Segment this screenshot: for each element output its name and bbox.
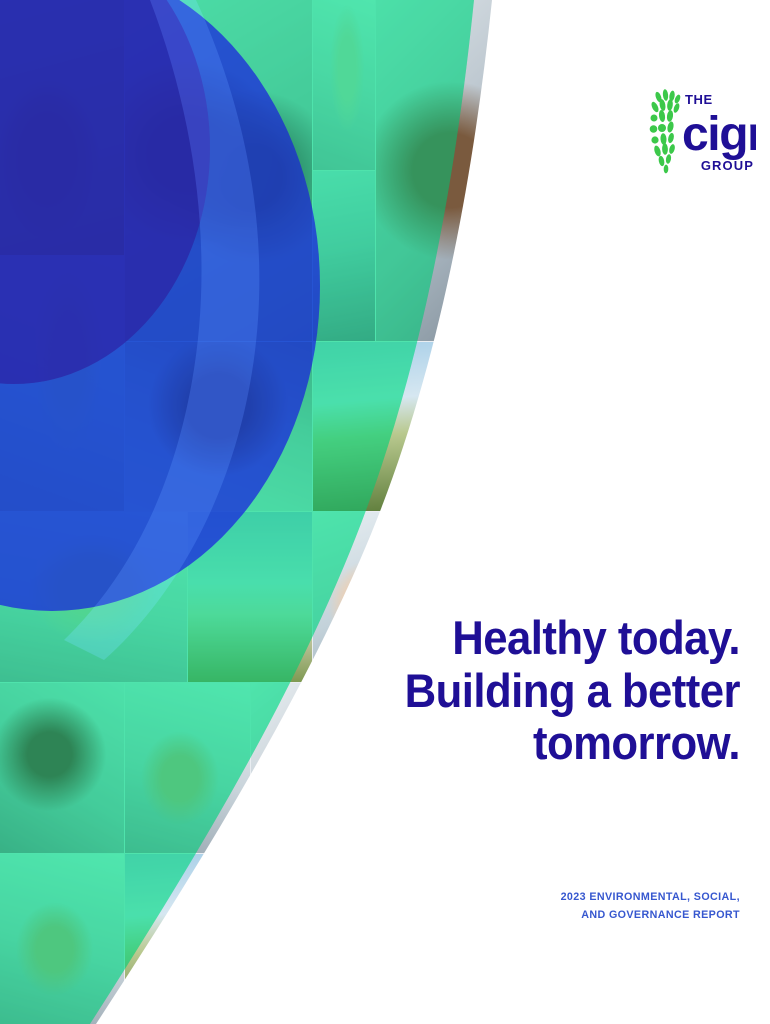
list-item: [376, 0, 500, 341]
collage-tile-person-walking-path: [0, 0, 124, 255]
page-title: Healthy today. Building a better tomorro…: [340, 612, 740, 770]
collage-tile-children-outdoors-play: [313, 342, 437, 512]
list-item: [313, 171, 375, 341]
headline-line-1: Healthy today.: [340, 612, 740, 665]
report-cover-page: THE cigna GROUP Healthy today. Building …: [0, 0, 770, 1024]
cigna-tree-of-life-icon: [650, 89, 682, 174]
list-item: [376, 940, 500, 1024]
list-item: [188, 512, 312, 682]
list-item: [0, 0, 124, 255]
list-item: [438, 342, 500, 597]
collage-tile-hands-holding-photo-frame: [313, 0, 375, 170]
list-item: [0, 854, 124, 1024]
collage-tile-musician-with-trumpet: [376, 0, 500, 341]
collage-tile-two-men-in-conversation: [0, 683, 124, 853]
subtitle-line-2: AND GOVERNANCE REPORT: [420, 906, 740, 924]
list-item: [125, 342, 312, 512]
list-item: [0, 683, 124, 853]
list-item: [251, 854, 375, 1024]
collage-tile-family-hiking-meadow: [188, 512, 312, 682]
cigna-group-logo[interactable]: THE cigna GROUP: [644, 88, 756, 186]
logo-the-label: THE: [685, 92, 713, 107]
collage-tile-video-call-on-laptop-2: [376, 940, 500, 1024]
collage-tile-person-holding-flag-2: [251, 854, 375, 1024]
collage-tile-hands-holding-photo-frame-2: [0, 256, 124, 511]
collage-tile-caregiver-with-senior: [125, 683, 249, 853]
collage-tile-person-holding-flag: [313, 171, 375, 341]
collage-tile-caregiver-with-senior-2: [0, 854, 124, 1024]
list-item: [313, 0, 375, 170]
list-item: [0, 256, 124, 511]
photo-mosaic-grid: [0, 0, 500, 1024]
headline-line-2: Building a better: [340, 665, 740, 718]
subtitle-line-1: 2023 ENVIRONMENTAL, SOCIAL,: [420, 888, 740, 906]
list-item: [125, 0, 312, 341]
report-subtitle: 2023 ENVIRONMENTAL, SOCIAL, AND GOVERNAN…: [420, 888, 740, 925]
headline-line-3: tomorrow.: [340, 717, 740, 770]
collage-tile-clinician-and-patient: [125, 342, 312, 512]
collage-tile-office-meeting-room: [438, 342, 500, 597]
list-item: [125, 683, 249, 853]
list-item: [125, 854, 249, 1024]
logo-wordmark: cigna: [682, 108, 756, 161]
collage-tile-video-call-on-laptop: [0, 512, 187, 682]
collage-tile-children-outdoors-play-2: [125, 854, 249, 1024]
list-item: [313, 342, 437, 512]
photo-collage: [0, 0, 500, 1024]
logo-group-label: GROUP: [701, 158, 754, 173]
list-item: [0, 512, 187, 682]
collage-tile-cyclists-city-street: [125, 0, 312, 341]
